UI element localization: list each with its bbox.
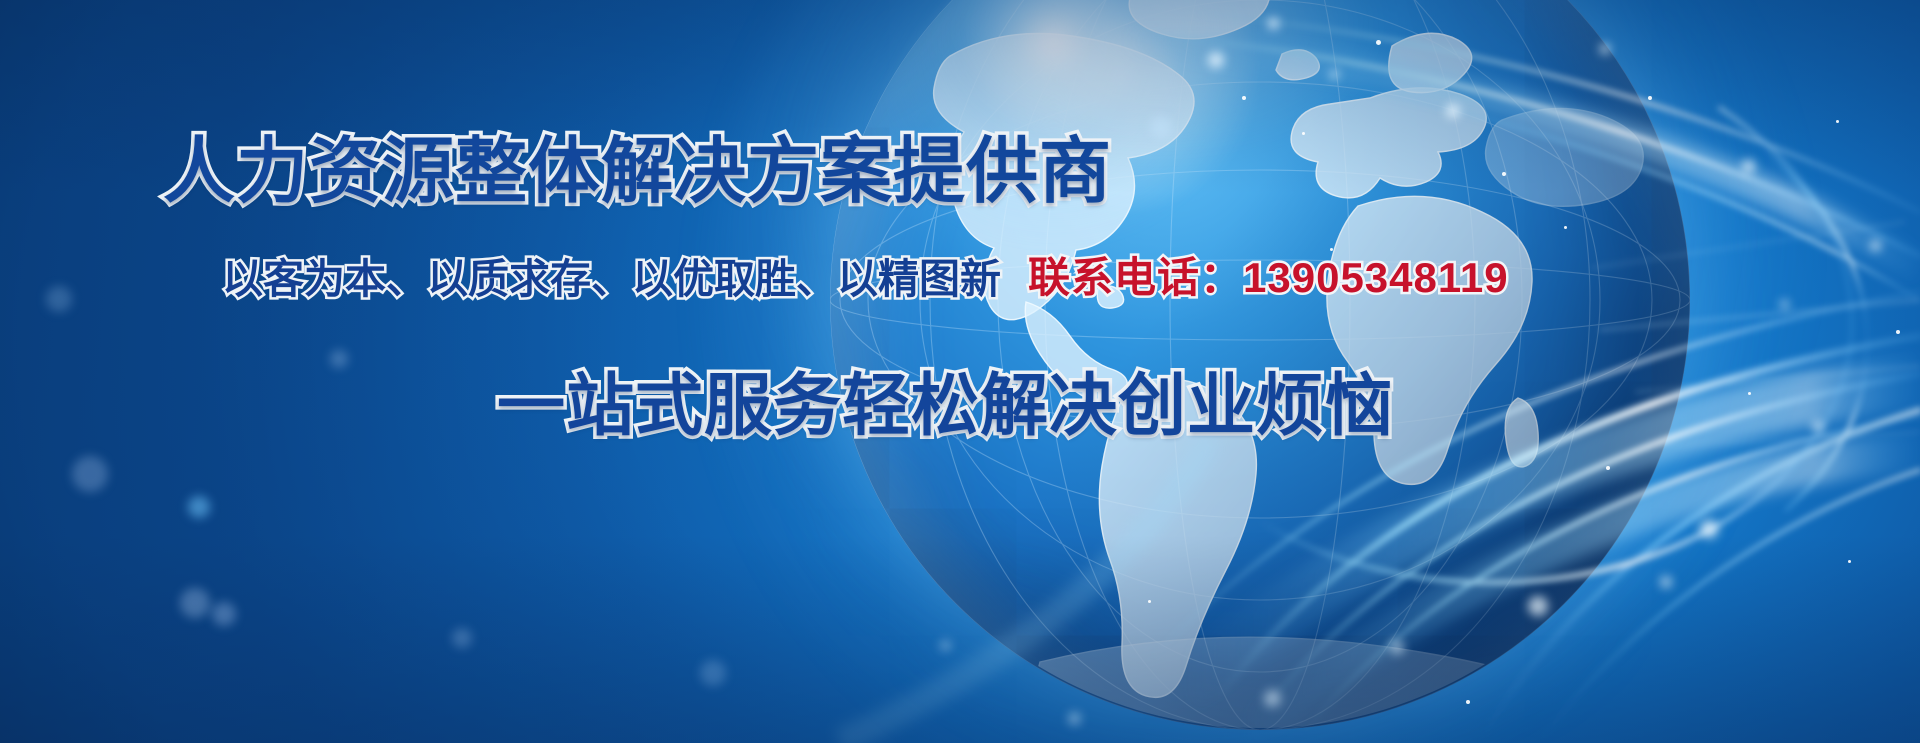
contact-phone-block: 联系电话：13905348119 <box>1028 257 1509 299</box>
contact-phone-label: 联系电话： <box>1028 254 1243 301</box>
banner-slogan: 一站式服务轻松解决创业烦恼 <box>497 372 1394 440</box>
banner-headline: 人力资源整体解决方案提供商 <box>163 136 1112 208</box>
banner-tagline: 以客为本、以质求存、以优取胜、以精图新 <box>222 259 1001 300</box>
contact-phone-number[interactable]: 13905348119 <box>1243 254 1509 301</box>
hero-banner: 人力资源整体解决方案提供商 以客为本、以质求存、以优取胜、以精图新 联系电话：1… <box>0 0 1920 743</box>
